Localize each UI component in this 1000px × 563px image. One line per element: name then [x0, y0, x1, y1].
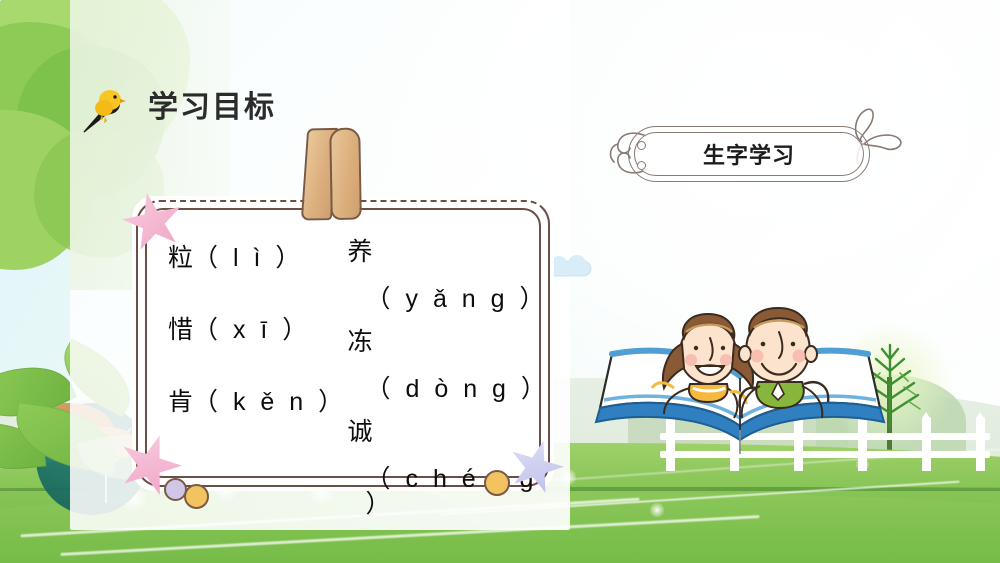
- vocab-pinyin: （ l ì ）: [193, 244, 304, 272]
- vocab-hanzi: 肯: [168, 388, 193, 416]
- section-label-text: 生字学习: [628, 126, 870, 182]
- vocab-pinyin: （ c h é n g ）: [348, 467, 546, 517]
- vocab-pinyin: （ y ǎ n g ）: [348, 287, 546, 312]
- bird-icon: [78, 80, 134, 136]
- clothespin-right-jaw: [329, 128, 362, 221]
- slide-heading: 学习目标: [78, 80, 276, 136]
- vocab-entry: 肯（ k ě n ）: [168, 390, 348, 415]
- vocab-hanzi: 诚: [348, 420, 546, 445]
- section-label-card[interactable]: 生字学习: [628, 126, 870, 182]
- wooden-clothespin-icon: [303, 128, 363, 219]
- vocab-hanzi: 养: [348, 240, 546, 265]
- vocabulary-list: 粒（ l ì ） 惜（ x ī ） 肯（ k ě n ） 养 （ y ǎ n g…: [168, 240, 546, 491]
- slide-canvas: 学习目标 生字学习: [0, 0, 1000, 563]
- vocab-pinyin: （ k ě n ）: [193, 388, 347, 416]
- vocab-hanzi: 冻: [348, 330, 546, 355]
- girl-with-pigtails-icon: [652, 314, 753, 418]
- vocab-entry: 惜（ x ī ）: [168, 318, 348, 343]
- vocab-entry: 诚 （ c h é n g ）: [348, 420, 546, 517]
- vocab-pinyin: （ x ī ）: [193, 316, 311, 344]
- vocab-entry: 冻 （ d ò n g ）: [348, 330, 546, 402]
- bokeh-dot: [650, 503, 664, 517]
- vocab-pinyin: （ d ò n g ）: [348, 377, 546, 402]
- fence-post: [922, 417, 931, 471]
- vocab-hanzi: 粒: [168, 244, 193, 272]
- vocab-entry: 养 （ y ǎ n g ）: [348, 240, 546, 312]
- vocabulary-note-card: 粒（ l ì ） 惜（ x ī ） 肯（ k ě n ） 养 （ y ǎ n g…: [132, 196, 554, 491]
- page-title: 学习目标: [148, 93, 276, 123]
- fence-post: [976, 417, 985, 471]
- orange-bead-icon: [184, 484, 209, 509]
- two-children-reading-book-illustration: [590, 268, 890, 458]
- vocabulary-column-left: 粒（ l ì ） 惜（ x ī ） 肯（ k ě n ）: [168, 240, 348, 491]
- vocab-entry: 粒（ l ì ）: [168, 246, 348, 271]
- orange-bead-icon: [484, 470, 510, 496]
- vocab-hanzi: 惜: [168, 316, 193, 344]
